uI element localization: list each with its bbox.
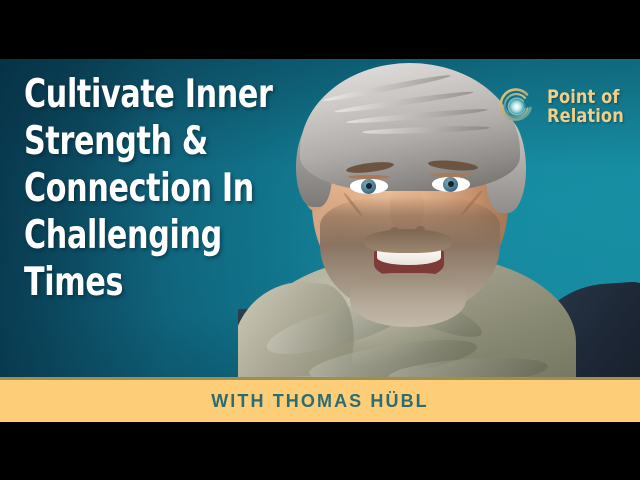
eyelid-right (430, 173, 472, 177)
iris (361, 179, 376, 194)
letterbox-top (0, 0, 640, 59)
spiral-swirl-icon (494, 85, 538, 129)
thumbnail-title: Cultivate Inner Strength & Connection In… (24, 71, 342, 306)
pupil (448, 181, 454, 187)
beard-chin (350, 273, 466, 327)
thumbnail-artwork: Cultivate Inner Strength & Connection In… (0, 59, 640, 422)
eyelid-left (348, 175, 390, 179)
iris (443, 177, 458, 192)
title-line-1: Cultivate Inner (24, 71, 297, 118)
brand-logo: Point of Relation (494, 85, 628, 129)
presenter-name: WITH THOMAS HÜBL (211, 391, 429, 412)
mustache (364, 229, 452, 253)
video-thumbnail-frame: Cultivate Inner Strength & Connection In… (0, 0, 640, 480)
brand-name: Point of Relation (547, 88, 628, 126)
brand-name-line-2: Relation (547, 107, 624, 126)
eye-left (350, 179, 388, 194)
eye-right (432, 177, 470, 192)
presenter-banner: WITH THOMAS HÜBL (0, 380, 640, 422)
title-line-3: Connection In (24, 165, 297, 212)
pupil (366, 183, 372, 189)
title-line-4: Challenging (24, 212, 297, 259)
letterbox-bottom (0, 422, 640, 480)
title-line-5: Times (24, 259, 297, 306)
title-line-2: Strength & (24, 118, 297, 165)
